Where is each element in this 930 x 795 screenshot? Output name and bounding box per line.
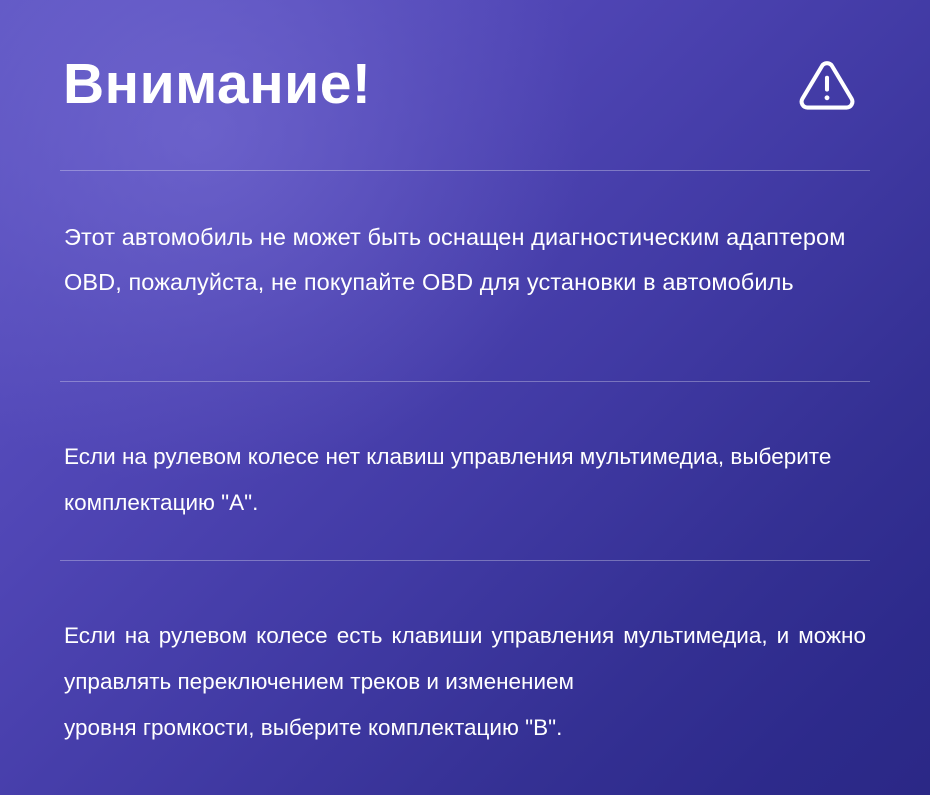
section-obd-warning-text: Этот автомобиль не может быть оснащен ди… [64, 215, 866, 305]
section-variant-b-text-main: Если на рулевом колесе есть клавиши упра… [64, 623, 866, 694]
section-variant-b: Если на рулевом колесе есть клавиши упра… [60, 561, 870, 751]
section-obd-warning: Этот автомобиль не может быть оснащен ди… [60, 171, 870, 381]
header: Внимание! [60, 0, 870, 170]
warning-notice-screen: Внимание! Этот автомобиль не может быть … [0, 0, 930, 795]
section-variant-b-text: Если на рулевом колесе есть клавиши упра… [64, 613, 866, 751]
section-variant-a: Если на рулевом колесе нет клавиш управл… [60, 382, 870, 560]
section-variant-b-text-last-line: уровня громкости, выберите комплектацию … [64, 705, 866, 751]
content-container: Внимание! Этот автомобиль не может быть … [0, 0, 930, 795]
page-title: Внимание! [63, 55, 371, 115]
warning-triangle-icon [796, 54, 858, 116]
section-variant-a-text: Если на рулевом колесе нет клавиш управл… [64, 434, 866, 526]
